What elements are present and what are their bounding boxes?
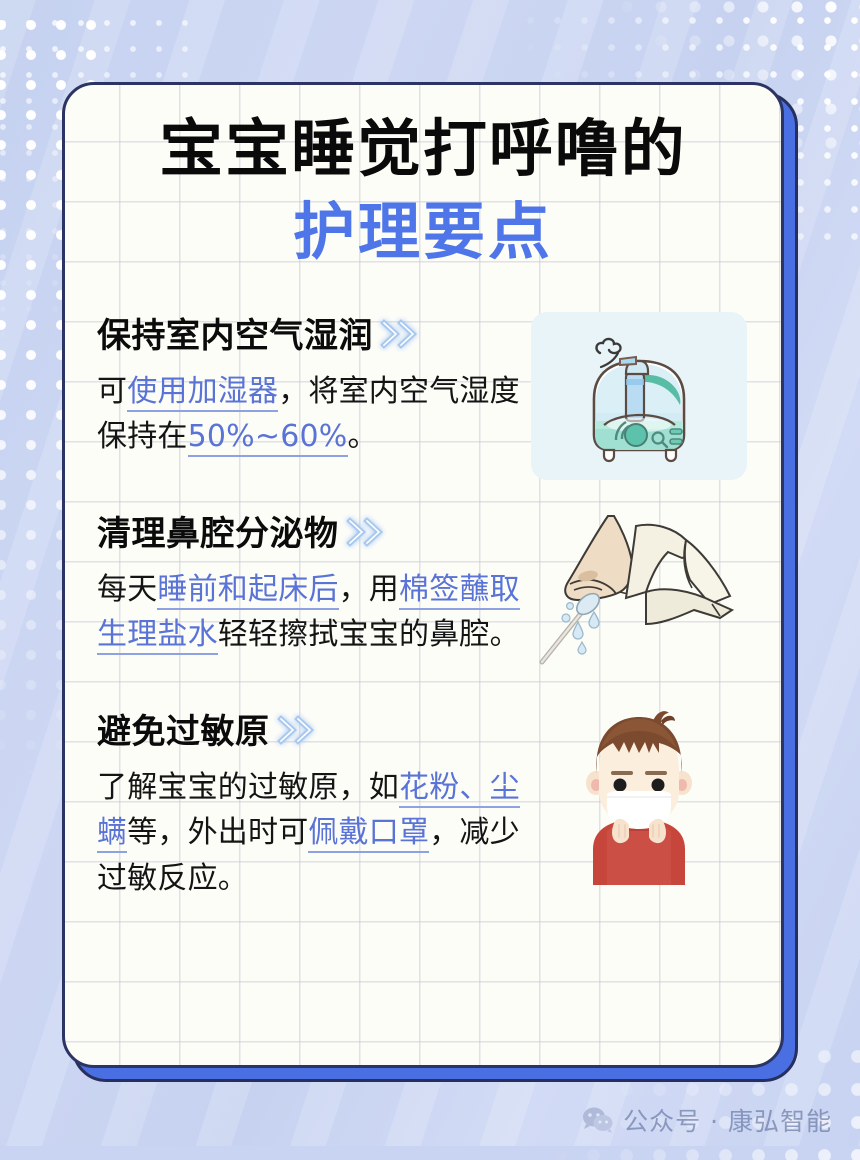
title-line-accent: 护理要点: [65, 192, 781, 271]
section-item: 清理鼻腔分泌物 每天睡前和起床后，用棉签: [97, 506, 755, 678]
body-segment: ，用: [339, 572, 399, 607]
body-segment: 轻轻擦拭宝宝的鼻腔。: [218, 617, 520, 652]
double-chevron-right-icon: [345, 515, 393, 549]
section-text-block: 避免过敏原 了解宝宝的过敏原，如花粉、尘: [97, 704, 522, 902]
section-heading-label: 保持室内空气湿润: [97, 308, 373, 357]
humidifier-illustration: [531, 312, 747, 480]
section-text-block: 清理鼻腔分泌物 每天睡前和起床后，用棉签: [97, 506, 522, 658]
section-body-text: 可使用加湿器，将室内空气湿度保持在50%~60%。: [97, 369, 522, 460]
section-illustration-slot: [522, 704, 755, 900]
nose-swab-tissue-illustration: [531, 510, 747, 678]
footer-account-name: 公众号 · 康弘智能: [623, 1102, 832, 1138]
body-highlight: 佩戴口罩: [308, 815, 429, 853]
child-wearing-mask-illustration: [531, 708, 747, 900]
poster-title: 宝宝睡觉打呼噜的 护理要点: [65, 85, 781, 272]
body-highlight: 睡前和起床后: [157, 572, 338, 610]
body-highlight: 50%~60%: [188, 419, 348, 457]
body-segment: 每天: [97, 572, 157, 607]
body-highlight: 使用加湿器: [127, 374, 278, 412]
body-segment: 了解宝宝的过敏原，如: [97, 770, 399, 805]
sections-list: 保持室内空气湿润 可使用加湿器，将室内空: [65, 308, 781, 902]
body-segment: 。: [348, 419, 378, 454]
section-heading-row: 避免过敏原: [97, 704, 522, 753]
body-segment: 可: [97, 374, 127, 409]
section-item: 避免过敏原 了解宝宝的过敏原，如花粉、尘: [97, 704, 755, 902]
poster-card-wrapper: 宝宝睡觉打呼噜的 护理要点 保持室内空气湿润: [62, 82, 798, 1082]
section-heading-label: 清理鼻腔分泌物: [97, 506, 339, 555]
footer-credit: 公众号 · 康弘智能: [582, 1102, 832, 1138]
section-heading-label: 避免过敏原: [97, 704, 270, 753]
section-body-text: 了解宝宝的过敏原，如花粉、尘螨等，外出时可佩戴口罩，减少过敏反应。: [97, 765, 522, 902]
section-illustration-slot: [522, 506, 755, 678]
title-line-primary: 宝宝睡觉打呼噜的: [62, 109, 784, 188]
section-illustration-slot: [522, 308, 755, 480]
wechat-icon: [582, 1106, 614, 1134]
section-body-text: 每天睡前和起床后，用棉签蘸取生理盐水轻轻擦拭宝宝的鼻腔。: [97, 567, 522, 658]
section-item: 保持室内空气湿润 可使用加湿器，将室内空: [97, 308, 755, 480]
body-segment: 等，外出时可: [127, 815, 308, 850]
double-chevron-right-icon: [379, 317, 427, 351]
poster-card: 宝宝睡觉打呼噜的 护理要点 保持室内空气湿润: [62, 82, 784, 1068]
section-heading-row: 清理鼻腔分泌物: [97, 506, 522, 555]
section-heading-row: 保持室内空气湿润: [97, 308, 522, 357]
section-text-block: 保持室内空气湿润 可使用加湿器，将室内空: [97, 308, 522, 460]
double-chevron-right-icon: [276, 713, 324, 747]
